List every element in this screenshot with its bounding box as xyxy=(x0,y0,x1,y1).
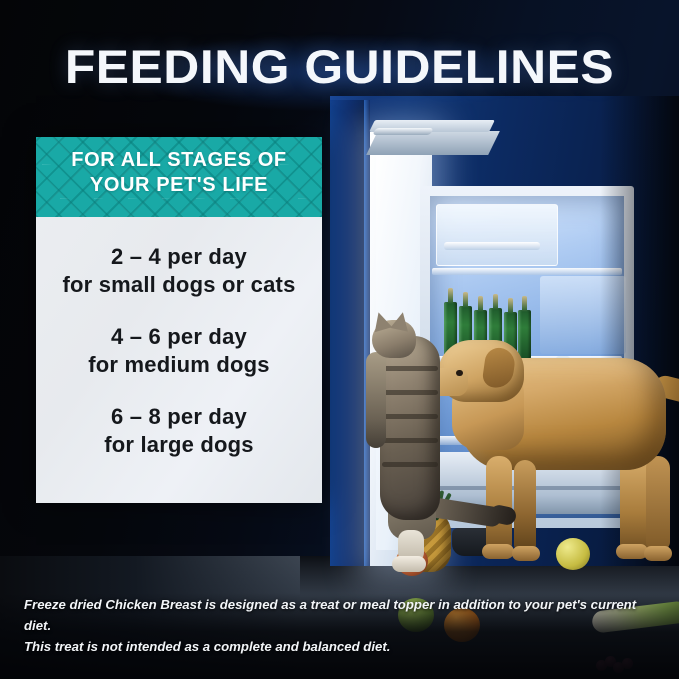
feeding-amount: 4 – 6 per day xyxy=(50,323,308,351)
freezer-compartment-lip xyxy=(444,242,540,250)
feeding-group: 4 – 6 per day for medium dogs xyxy=(50,323,308,379)
feeding-group: 2 – 4 per day for small dogs or cats xyxy=(50,243,308,299)
disclaimer: Freeze dried Chicken Breast is designed … xyxy=(24,594,663,657)
image-canvas: FEEDING GUIDELINES FOR ALL STAGES OF YO xyxy=(0,0,679,679)
cat-body xyxy=(380,336,440,520)
feeding-audience: for small dogs or cats xyxy=(50,271,308,299)
cat-front-leg xyxy=(366,352,386,448)
feeding-amount: 6 – 8 per day xyxy=(50,403,308,431)
disclaimer-line-1: Freeze dried Chicken Breast is designed … xyxy=(24,594,663,636)
feeding-group: 6 – 8 per day for large dogs xyxy=(50,403,308,459)
refrigerator-door-panel xyxy=(330,100,366,566)
feeding-guidelines-panel: FOR ALL STAGES OF YOUR PET'S LIFE 2 – 4 … xyxy=(36,137,322,503)
page-title: FEEDING GUIDELINES xyxy=(0,44,679,90)
fridge-shelf-1 xyxy=(432,268,622,275)
disclaimer-line-2: This treat is not intended as a complete… xyxy=(24,636,663,657)
cat-ear-right xyxy=(390,310,411,331)
panel-header-text: FOR ALL STAGES OF YOUR PET'S LIFE xyxy=(36,137,322,198)
panel-header-line-1: FOR ALL STAGES OF xyxy=(36,148,322,173)
cat xyxy=(362,316,492,584)
cat-paw-front xyxy=(392,556,426,572)
panel-header-line-2: YOUR PET'S LIFE xyxy=(36,173,322,198)
feeding-amount: 2 – 4 per day xyxy=(50,243,308,271)
panel-header: FOR ALL STAGES OF YOUR PET'S LIFE xyxy=(36,137,322,217)
door-handle xyxy=(372,128,433,135)
feeding-audience: for medium dogs xyxy=(50,351,308,379)
freezer-compartment xyxy=(436,204,558,266)
panel-body: 2 – 4 per day for small dogs or cats 4 –… xyxy=(36,217,322,493)
feeding-audience: for large dogs xyxy=(50,431,308,459)
